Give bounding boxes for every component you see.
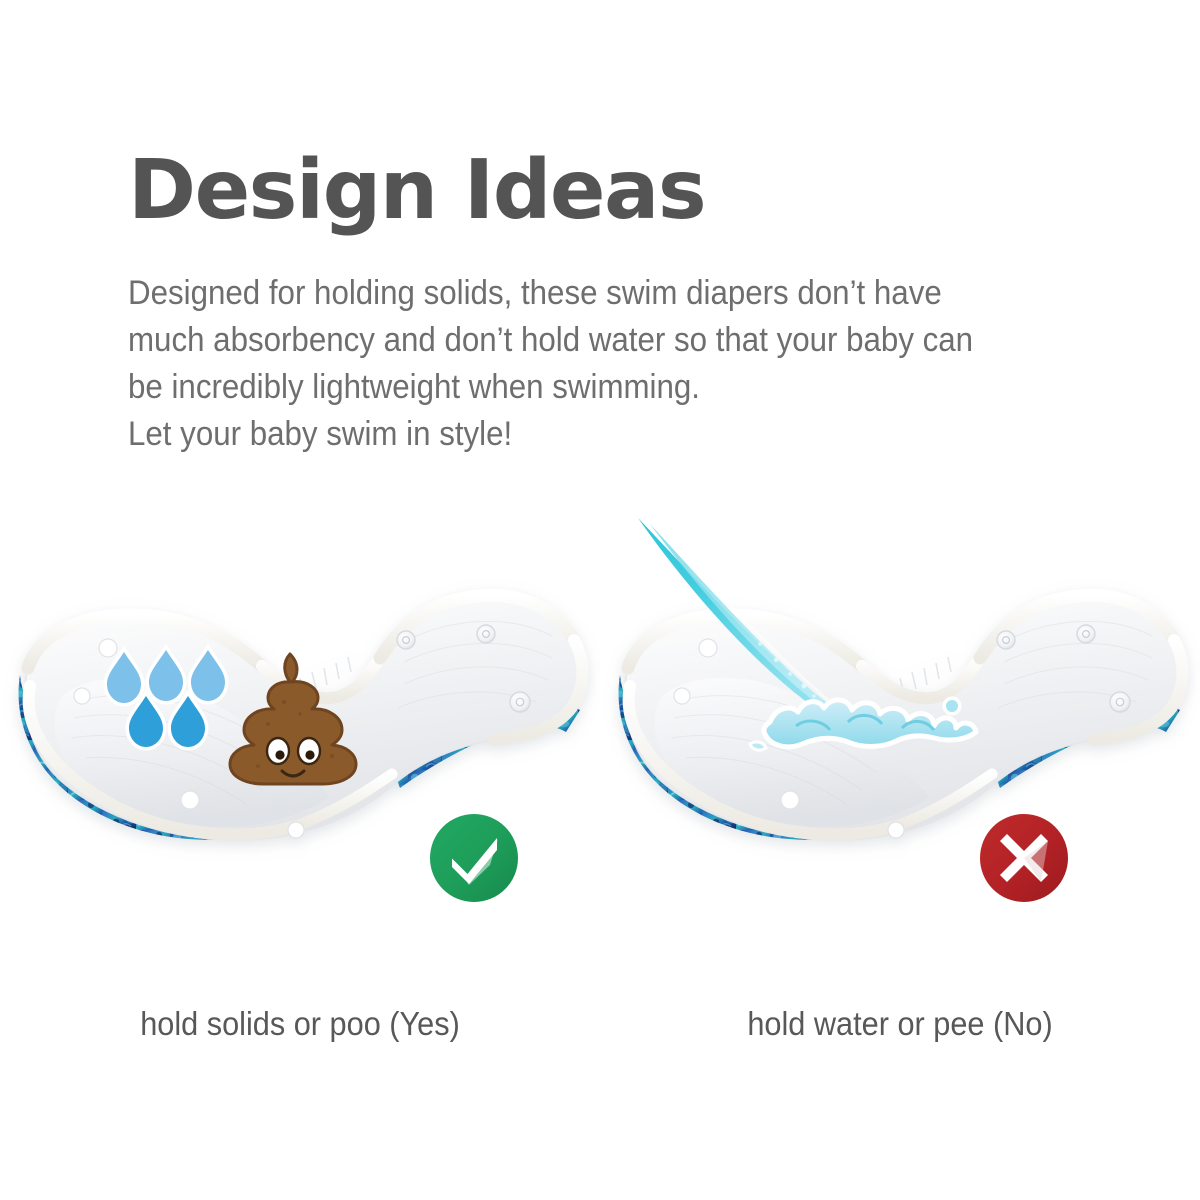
page-title: Design Ideas — [128, 150, 1128, 232]
intro-paragraph: Designed for holding solids, these swim … — [128, 270, 1048, 458]
comparison-panels: hold solids or poo (Yes) — [0, 500, 1200, 1100]
caption-hold-water: hold water or pee (No) — [621, 1005, 1179, 1043]
badge-circle — [430, 814, 518, 902]
check-badge — [428, 812, 520, 904]
panel-hold-water: hold water or pee (No) — [600, 500, 1200, 1100]
caption-hold-solids: hold solids or poo (Yes) — [21, 1005, 579, 1043]
intro-line-3: be incredibly lightweight when swimming. — [128, 364, 1048, 411]
panel-hold-solids: hold solids or poo (Yes) — [0, 500, 600, 1100]
product-stage-right — [600, 500, 1200, 940]
intro-line-1: Designed for holding solids, these swim … — [128, 270, 1048, 317]
infographic-page: Design Ideas Designed for holding solids… — [0, 0, 1200, 1200]
intro-line-4: Let your baby swim in style! — [128, 411, 1048, 458]
intro-line-2: much absorbency and don’t hold water so … — [128, 317, 1048, 364]
product-stage-left — [0, 500, 600, 940]
cross-badge — [978, 812, 1070, 904]
swim-diaper-open — [600, 500, 1200, 940]
header-block: Design Ideas Designed for holding solids… — [128, 150, 1128, 458]
